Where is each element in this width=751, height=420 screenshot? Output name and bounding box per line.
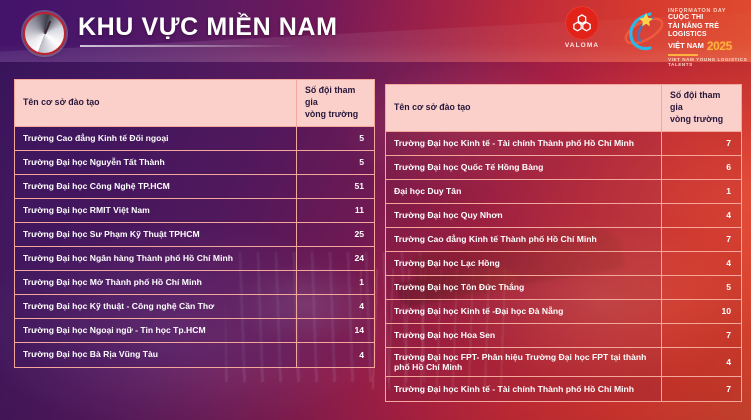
valoma-cube-glyph	[572, 13, 592, 33]
table-row: Trường Đại học Tôn Đức Thắng 5	[386, 276, 741, 300]
cell-institution-name: Trường Đại học Kinh tế -Đại học Đà Nẵng	[386, 300, 662, 323]
compass-dial-icon	[23, 12, 66, 55]
column-header-count-line1: Số đội tham gia	[305, 85, 355, 107]
column-header-count-line1: Số đội tham gia	[670, 90, 720, 112]
cell-team-count: 4	[297, 343, 374, 367]
cell-team-count: 1	[662, 180, 741, 203]
table-row: Trường Đại học Lạc Hồng 4	[386, 252, 741, 276]
column-header-name: Tên cơ sở đào tạo	[386, 85, 662, 131]
table-row: Trường Đại học Ngoại ngữ - Tin học Tp.HC…	[15, 319, 374, 343]
table-row: Trường Đại học FPT- Phân hiệu Trường Đại…	[386, 348, 741, 378]
column-header-count: Số đội tham gia vòng trường	[662, 85, 741, 131]
table-row: Trường Cao đẳng Kinh tế Thành phố Hồ Chí…	[386, 228, 741, 252]
cell-team-count: 4	[662, 204, 741, 227]
cell-team-count: 11	[297, 199, 374, 222]
table-row: Trường Đại học Kỹ thuật - Công nghệ Cần …	[15, 295, 374, 319]
table-row: Trường Đại học Nguyễn Tất Thành 5	[15, 151, 374, 175]
cell-institution-name: Trường Đại học Ngân hàng Thành phố Hồ Ch…	[15, 247, 297, 270]
cell-institution-name: Đại học Duy Tân	[386, 180, 662, 203]
cell-team-count: 5	[297, 127, 374, 150]
infoday-logo: INFORMATON DAY CUỘC THI TÀI NĂNG TRẺ LOG…	[620, 4, 748, 58]
cell-institution-name: Trường Đại học Tôn Đức Thắng	[386, 276, 662, 299]
cell-institution-name: Trường Cao đẳng Kinh tế Đối ngoại	[15, 127, 297, 150]
infoday-vietnam-label: VIỆT NAM	[668, 42, 704, 51]
table-row: Trường Đại học Kinh tế -Đại học Đà Nẵng …	[386, 300, 741, 324]
orbit-swoosh-icon	[620, 8, 668, 54]
table-right-header-row: Tên cơ sở đào tạo Số đội tham gia vòng t…	[386, 85, 741, 132]
table-row: Trường Đại học Ngân hàng Thành phố Hồ Ch…	[15, 247, 374, 271]
table-row: Trường Đại học RMIT Việt Nam 11	[15, 199, 374, 223]
table-row: Trường Đại học Sư Phạm Kỹ Thuật TPHCM 25	[15, 223, 374, 247]
table-left-header-row: Tên cơ sở đào tạo Số đội tham gia vòng t…	[15, 80, 374, 127]
table-right: Tên cơ sở đào tạo Số đội tham gia vòng t…	[385, 84, 742, 402]
cell-institution-name: Trường Đại học Mở Thành phố Hồ Chí Minh	[15, 271, 297, 294]
cell-team-count: 5	[297, 151, 374, 174]
table-row: Trường Đại học Kinh tế - Tài chính Thành…	[386, 132, 741, 156]
cell-institution-name: Trường Cao đẳng Kinh tế Thành phố Hồ Chí…	[386, 228, 662, 251]
table-row: Trường Đại học Mở Thành phố Hồ Chí Minh …	[15, 271, 374, 295]
infoday-text-block: INFORMATON DAY CUỘC THI TÀI NĂNG TRẺ LOG…	[668, 8, 748, 68]
title-underline	[80, 45, 300, 47]
cell-team-count: 14	[297, 319, 374, 342]
infoday-line-cuocthi: CUỘC THI	[668, 14, 748, 22]
cell-institution-name: Trường Đại học Sư Phạm Kỹ Thuật TPHCM	[15, 223, 297, 246]
cell-team-count: 7	[662, 324, 741, 347]
cell-team-count: 10	[662, 300, 741, 323]
cell-institution-name: Trường Đại học Bà Rịa Vũng Tàu	[15, 343, 297, 367]
table-left: Tên cơ sở đào tạo Số đội tham gia vòng t…	[14, 79, 375, 368]
cell-institution-name: Trường Đại học Kinh tế - Tài chính Thành…	[386, 132, 662, 155]
page-title: KHU VỰC MIỀN NAM	[78, 13, 338, 42]
infoday-divider	[668, 54, 698, 56]
cell-team-count: 4	[662, 348, 741, 377]
cell-institution-name: Trường Đại học Ngoại ngữ - Tin học Tp.HC…	[15, 319, 297, 342]
cell-team-count: 7	[662, 377, 741, 401]
cell-institution-name: Trường Đại học Nguyễn Tất Thành	[15, 151, 297, 174]
infoday-line-tagline: VIET NAM YOUNG LOGISTICS TALENTS	[668, 57, 748, 68]
cell-institution-name: Trường Đại học Quốc Tế Hồng Bàng	[386, 156, 662, 179]
cell-institution-name: Trường Đại học Kinh tế - Tài chính Thành…	[386, 377, 662, 401]
table-row: Trường Cao đẳng Kinh tế Đối ngoại 5	[15, 127, 374, 151]
column-header-count-line2: vòng trường	[670, 114, 723, 124]
cell-team-count: 7	[662, 228, 741, 251]
column-header-name: Tên cơ sở đào tạo	[15, 80, 297, 126]
cell-institution-name: Trường Đại học Công Nghệ TP.HCM	[15, 175, 297, 198]
valoma-logo: VALOMA	[556, 6, 608, 54]
column-header-count: Số đội tham gia vòng trường	[297, 80, 374, 126]
cell-team-count: 51	[297, 175, 374, 198]
cell-team-count: 24	[297, 247, 374, 270]
table-row: Trường Đại học Hoa Sen 7	[386, 324, 741, 348]
cell-team-count: 7	[662, 132, 741, 155]
cell-team-count: 4	[297, 295, 374, 318]
cell-team-count: 1	[297, 271, 374, 294]
cell-institution-name: Trường Đại học Kỹ thuật - Công nghệ Cần …	[15, 295, 297, 318]
slide-canvas: KHU VỰC MIỀN NAM VALOMA INFORMATON DAY C…	[0, 0, 751, 420]
valoma-label: VALOMA	[556, 42, 608, 49]
valoma-cube-icon	[565, 6, 599, 40]
infoday-year: 2025	[707, 39, 732, 53]
cell-team-count: 4	[662, 252, 741, 275]
table-row: Trường Đại học Công Nghệ TP.HCM 51	[15, 175, 374, 199]
table-row: Trường Đại học Bà Rịa Vũng Tàu 4	[15, 343, 374, 367]
infoday-line-tainangtre: TÀI NĂNG TRẺ LOGISTICS	[668, 23, 748, 40]
infoday-line-vietnam: VIỆT NAM 2025	[668, 39, 748, 53]
table-row: Trường Đại học Quy Nhơn 4	[386, 204, 741, 228]
table-row: Trường Đại học Kinh tế - Tài chính Thành…	[386, 377, 741, 401]
cell-team-count: 25	[297, 223, 374, 246]
cell-institution-name: Trường Đại học Hoa Sen	[386, 324, 662, 347]
cell-team-count: 5	[662, 276, 741, 299]
table-row: Trường Đại học Quốc Tế Hồng Bàng 6	[386, 156, 741, 180]
cell-institution-name: Trường Đại học RMIT Việt Nam	[15, 199, 297, 222]
cell-institution-name: Trường Đại học FPT- Phân hiệu Trường Đại…	[386, 348, 662, 377]
cell-institution-name: Trường Đại học Quy Nhơn	[386, 204, 662, 227]
table-row: Đại học Duy Tân 1	[386, 180, 741, 204]
column-header-count-line2: vòng trường	[305, 109, 358, 119]
cell-team-count: 6	[662, 156, 741, 179]
cell-institution-name: Trường Đại học Lạc Hồng	[386, 252, 662, 275]
